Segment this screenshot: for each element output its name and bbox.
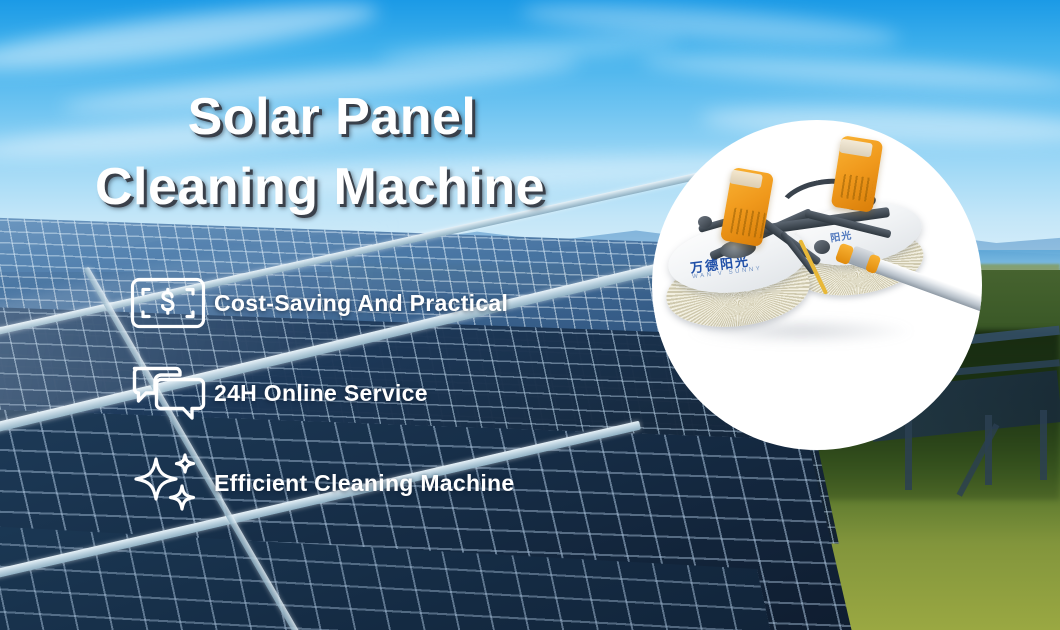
feature-item-cost-saving: Cost-Saving And Practical bbox=[130, 258, 650, 348]
frame-joint bbox=[814, 240, 830, 254]
feature-item-online-service: 24H Online Service bbox=[130, 348, 650, 438]
cloud bbox=[640, 49, 1060, 96]
feature-list: Cost-Saving And Practical 24H Online Ser… bbox=[130, 258, 650, 528]
panel-rack-leg bbox=[1040, 410, 1047, 480]
product-illustration: 阳光 万德阳光 WAN V SUNNY bbox=[652, 120, 982, 450]
feature-label: Efficient Cleaning Machine bbox=[214, 470, 514, 497]
frame-joint bbox=[698, 216, 712, 228]
promo-banner: Solar Panel Cleaning Machine Cost-Saving… bbox=[0, 0, 1060, 630]
chat-bubbles-icon bbox=[130, 362, 214, 424]
feature-label: 24H Online Service bbox=[214, 380, 428, 407]
product-ground-shadow bbox=[686, 318, 916, 344]
cloud bbox=[0, 0, 381, 81]
banknote-dollar-icon bbox=[130, 272, 214, 334]
product-image-circle: 阳光 万德阳光 WAN V SUNNY bbox=[652, 120, 982, 450]
banner-headline: Solar Panel Cleaning Machine bbox=[0, 82, 640, 222]
feature-item-efficient-cleaning: Efficient Cleaning Machine bbox=[130, 438, 650, 528]
sparkles-icon bbox=[130, 452, 214, 514]
headline-line-2: Cleaning Machine bbox=[0, 152, 640, 222]
feature-label: Cost-Saving And Practical bbox=[214, 290, 508, 317]
motor-vent bbox=[730, 207, 766, 238]
headline-line-1: Solar Panel bbox=[0, 82, 640, 152]
motor-vent bbox=[840, 174, 873, 202]
solar-panel-row-bottom bbox=[0, 520, 815, 630]
